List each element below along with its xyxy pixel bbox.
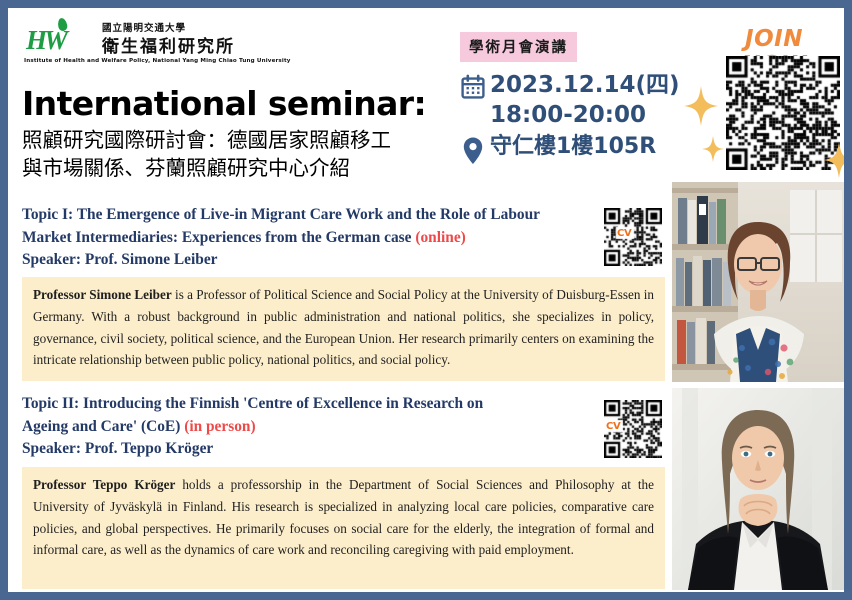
topic-2-cv-qr-code[interactable]: CV: [604, 400, 662, 458]
topic-1-heading-line2-wrap: Market Intermediaries: Experiences from …: [22, 227, 597, 250]
topic-1-speaker-name: Professor Simone Leiber: [33, 287, 172, 302]
topic-1-mode-tag: (online): [415, 229, 465, 246]
event-location: 守仁樓1樓105R: [490, 132, 656, 162]
poster-title-en: International seminar:: [22, 84, 426, 123]
poster-title-cn-line2: 與市場關係、芬蘭照顧研究中心介紹: [22, 154, 452, 182]
event-datetime-text: 2023.12.14(四) 18:00-20:00: [490, 70, 680, 130]
topic-1-cv-qr-label: CV: [617, 228, 631, 239]
topic-2-heading-line2: Ageing and Care' (CoE): [22, 418, 180, 435]
poster-title-cn-line1: 照顧研究國際研討會：德國居家照顧移工: [22, 126, 452, 154]
topic-1-heading: Topic I: The Emergence of Live-in Migran…: [22, 204, 597, 272]
topic-1-heading-line2: Market Intermediaries: Experiences from …: [22, 229, 412, 246]
logo-institute-name-cn: 衛生福利研究所: [102, 32, 235, 57]
calendar-icon: [456, 70, 490, 100]
topic-1-speaker: Speaker: Prof. Simone Leiber: [22, 249, 597, 272]
logo-institute-name-en: Institute of Health and Welfare Policy, …: [24, 58, 291, 64]
event-datetime-row: 2023.12.14(四) 18:00-20:00: [456, 70, 716, 130]
topic-2-speaker-photo: [672, 388, 844, 590]
seminar-poster: HW 國立陽明交通大學 衛生福利研究所 Institute of Health …: [0, 0, 852, 600]
logo-monogram: HW: [26, 24, 98, 56]
topic-1-speaker-bio: Professor Simone Leiber is a Professor o…: [22, 277, 665, 381]
topic-2-cv-qr-label: CV: [606, 421, 620, 432]
topic-2-heading-line2-wrap: Ageing and Care' (CoE) (in person): [22, 416, 597, 439]
topic-2-speaker-bio: Professor Teppo Kröger holds a professor…: [22, 467, 665, 589]
institute-logo: HW 國立陽明交通大學 衛生福利研究所 Institute of Health …: [20, 18, 320, 70]
registration-qr-code[interactable]: [726, 56, 840, 170]
topic-2-speaker-name: Professor Teppo Kröger: [33, 477, 175, 492]
sparkle-icon: [702, 136, 724, 162]
map-pin-icon: [456, 132, 490, 166]
sparkle-icon: [684, 86, 718, 126]
event-details: 2023.12.14(四) 18:00-20:00 守仁樓1樓105R: [456, 70, 716, 166]
topic-2-heading: Topic II: Introducing the Finnish 'Centr…: [22, 393, 597, 461]
topic-2-mode-tag: (in person): [184, 418, 255, 435]
topic-1-cv-qr-code[interactable]: CV: [604, 208, 662, 266]
topic-1-speaker-photo: [672, 182, 844, 382]
poster-title-cn: 照顧研究國際研討會：德國居家照顧移工 與市場關係、芬蘭照顧研究中心介紹: [22, 126, 452, 182]
event-date: 2023.12.14(四): [490, 70, 680, 100]
event-time: 18:00-20:00: [490, 100, 680, 130]
topic-2-heading-line1: Topic II: Introducing the Finnish 'Centr…: [22, 393, 597, 416]
sparkle-icon: [824, 142, 844, 178]
topic-2-speaker: Speaker: Prof. Teppo Kröger: [22, 438, 597, 461]
topic-1-heading-line1: Topic I: The Emergence of Live-in Migran…: [22, 204, 597, 227]
event-series-badge: 學術月會演講: [460, 32, 577, 62]
poster-page: HW 國立陽明交通大學 衛生福利研究所 Institute of Health …: [8, 8, 844, 592]
event-location-row: 守仁樓1樓105R: [456, 132, 716, 166]
